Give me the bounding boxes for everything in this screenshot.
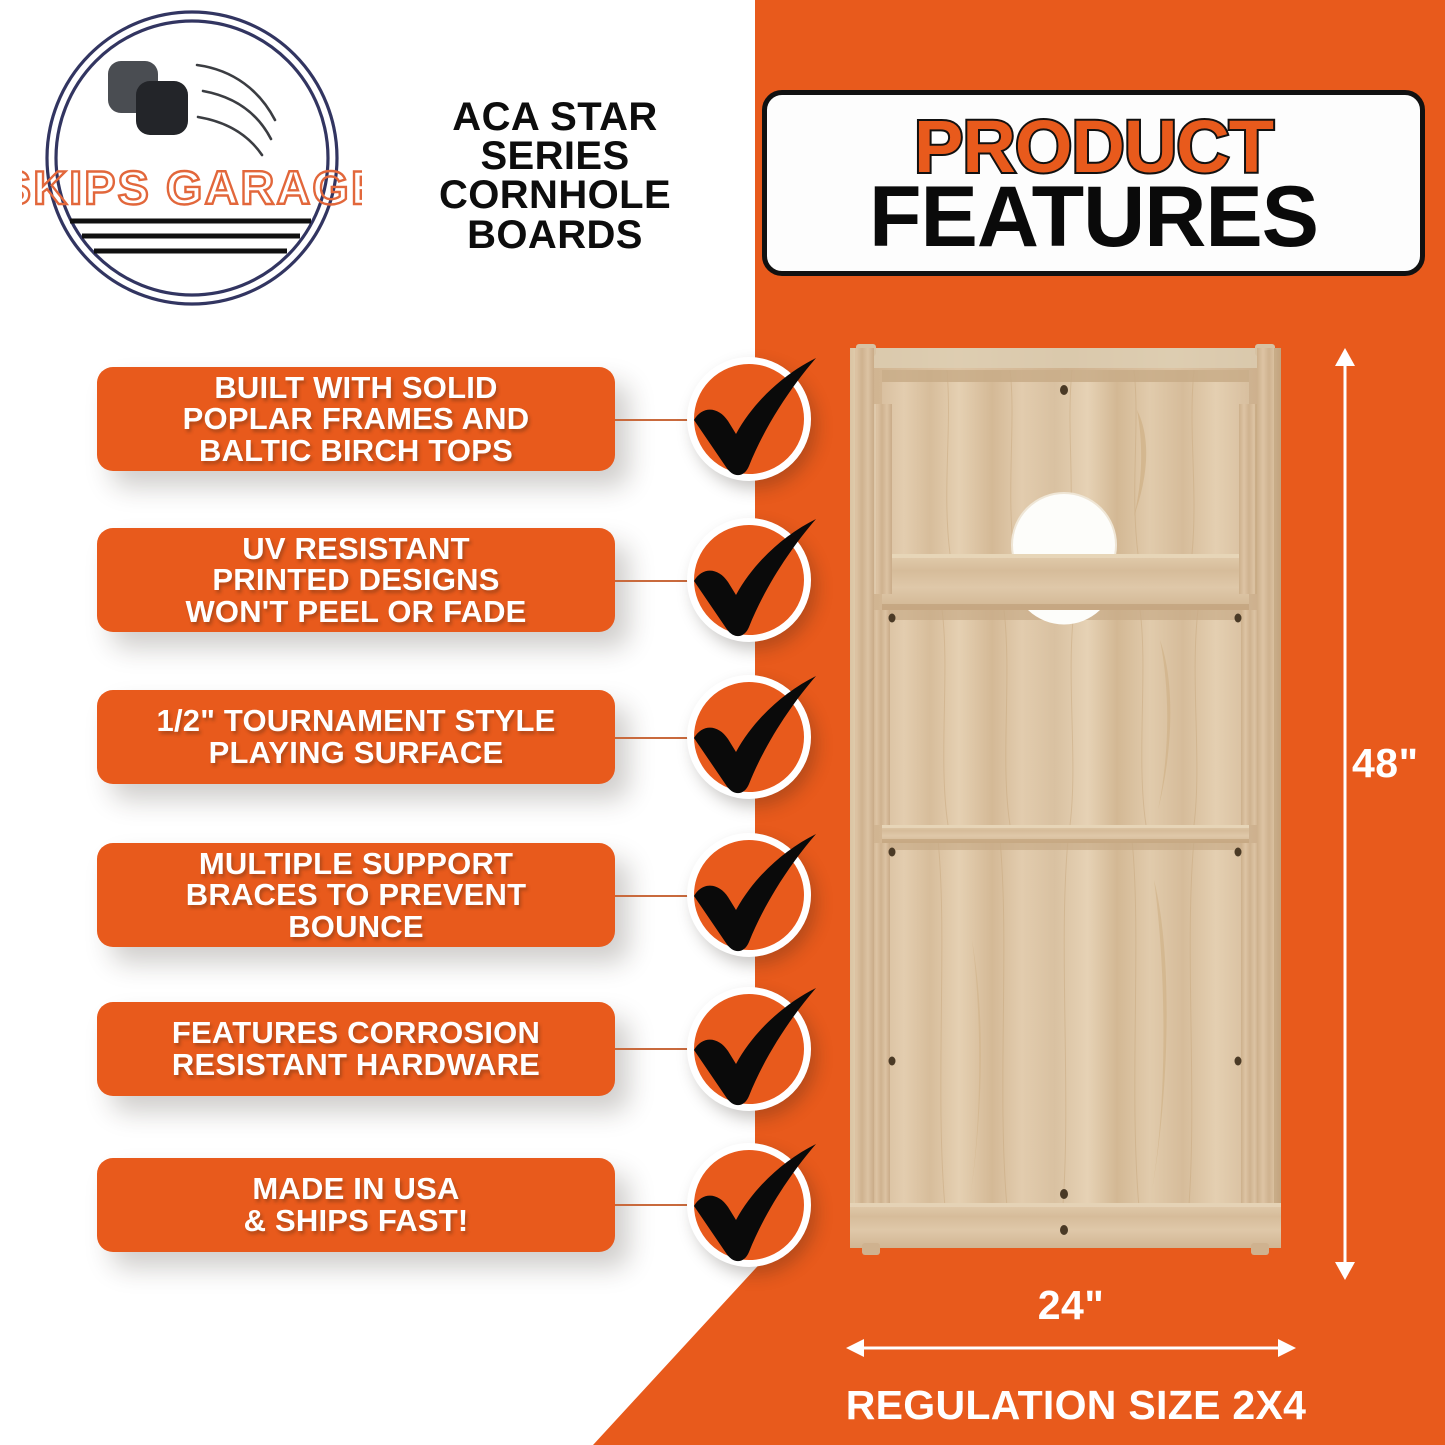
page-title-line-2: SERIES [380, 137, 730, 176]
check-icon [678, 344, 828, 494]
feature-pill: BUILT WITH SOLID POPLAR FRAMES AND BALTI… [97, 367, 615, 471]
feature-text-line: FEATURES CORROSION [172, 1017, 540, 1049]
product-image-cornhole-board [842, 340, 1289, 1270]
feature-text-line: WON'T PEEL OR FADE [185, 596, 526, 628]
feature-check-badge [687, 833, 811, 957]
banner-title-features: FEATURES [869, 179, 1318, 256]
feature-check-badge [687, 357, 811, 481]
logo-outer-circle-icon [47, 12, 337, 304]
feature-text-line: UV RESISTANT [185, 533, 526, 565]
logo-inner-circle-icon [56, 21, 328, 295]
double-arrow-horizontal-icon [846, 1336, 1296, 1360]
feature-text-line: 1/2" TOURNAMENT STYLE [157, 705, 556, 737]
feature-pill: FEATURES CORROSION RESISTANT HARDWARE [97, 1002, 615, 1096]
page-title-line-1: ACA STAR [380, 98, 730, 137]
feature-text-line: & SHIPS FAST! [244, 1205, 469, 1237]
double-arrow-vertical-icon [1330, 348, 1360, 1280]
regulation-size-label: REGULATION SIZE 2X4 [826, 1382, 1326, 1429]
width-dimension-arrow [846, 1336, 1296, 1360]
product-features-banner: PRODUCT FEATURES [762, 90, 1425, 276]
feature-text-line: BRACES TO PREVENT [186, 879, 526, 911]
width-dimension-label: 24" [846, 1282, 1296, 1329]
feature-text-line: RESISTANT HARDWARE [172, 1049, 540, 1081]
feature-check-badge [687, 675, 811, 799]
feature-text-line: BOUNCE [186, 911, 526, 943]
motion-arc-icon [197, 65, 275, 155]
brand-logo: SKIPS GARAGE [22, 8, 362, 308]
feature-check-badge [687, 1143, 811, 1267]
feature-check-badge [687, 987, 811, 1111]
feature-pill: UV RESISTANT PRINTED DESIGNS WON'T PEEL … [97, 528, 615, 632]
page-title-line-3: CORNHOLE [380, 176, 730, 215]
logo-rules-icon [70, 221, 311, 251]
logo-brand-text: SKIPS GARAGE [22, 161, 362, 214]
check-icon [678, 974, 828, 1124]
feature-text-line: MULTIPLE SUPPORT [186, 848, 526, 880]
feature-check-badge [687, 518, 811, 642]
infographic-page: SKIPS GARAGE ACA STAR SERIES CORNHOLE BO… [0, 0, 1445, 1445]
page-title-line-4: BOARDS [380, 216, 730, 255]
check-icon [678, 820, 828, 970]
feature-pill: MADE IN USA & SHIPS FAST! [97, 1158, 615, 1252]
check-icon [678, 505, 828, 655]
feature-pill: MULTIPLE SUPPORT BRACES TO PREVENT BOUNC… [97, 843, 615, 947]
check-icon [678, 662, 828, 812]
feature-text-line: BALTIC BIRCH TOPS [183, 435, 530, 467]
height-dimension-arrow [1330, 348, 1360, 1280]
feature-text-line: POPLAR FRAMES AND [183, 403, 530, 435]
check-icon [678, 1130, 828, 1280]
feature-text-line: MADE IN USA [244, 1173, 469, 1205]
feature-text-line: PLAYING SURFACE [157, 737, 556, 769]
feature-text-line: BUILT WITH SOLID [183, 372, 530, 404]
feature-pill: 1/2" TOURNAMENT STYLE PLAYING SURFACE [97, 690, 615, 784]
height-dimension-label: 48" [1352, 740, 1419, 787]
bag-square-front-icon [136, 81, 188, 135]
page-title: ACA STAR SERIES CORNHOLE BOARDS [380, 98, 730, 255]
feature-text-line: PRINTED DESIGNS [185, 564, 526, 596]
